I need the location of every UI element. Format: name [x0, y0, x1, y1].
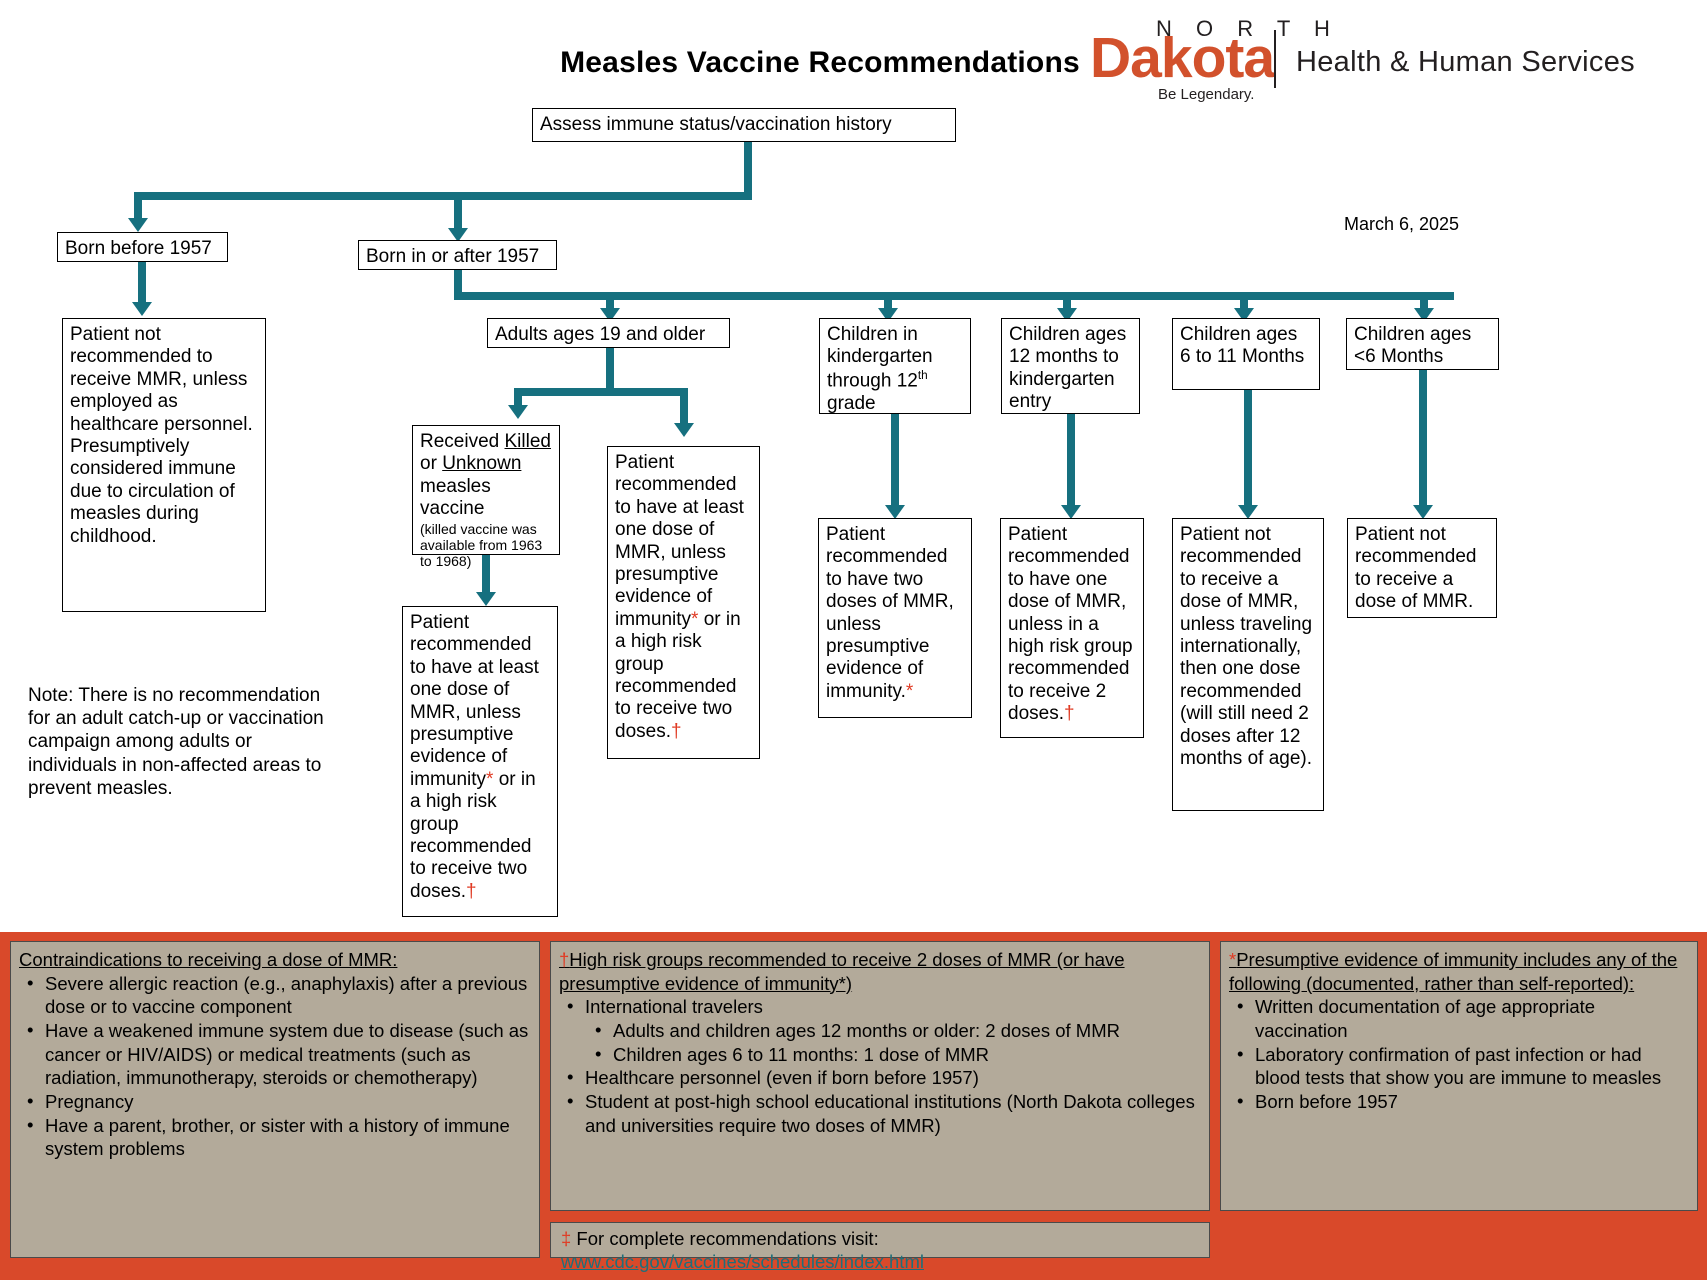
- dagger-marker: †: [1064, 703, 1075, 724]
- node-6to11-outcome: Patient not recommended to receive a dos…: [1172, 518, 1324, 811]
- connector-to-born-after: [454, 192, 462, 232]
- children-k12-text-1: Children in kindergarten through 12: [827, 324, 933, 391]
- arrow-to-adult-outcome: [674, 423, 694, 437]
- list-item: Severe allergic reaction (e.g., anaphyla…: [19, 972, 531, 1019]
- nd-hhs-logo: N O R T H Dakota Be Legendary. Health & …: [1078, 8, 1698, 104]
- double-dagger-marker: ‡: [561, 1228, 571, 1249]
- received-killed-tail: measles vaccine: [420, 476, 491, 519]
- node-children-under-6-months: Children ages <6 Months: [1346, 318, 1499, 370]
- received-killed-word-killed: Killed: [505, 431, 551, 452]
- node-children-6-to-11-months: Children ages 6 to 11 Months: [1172, 318, 1320, 390]
- connector-before1957-outcome: [138, 262, 146, 306]
- list-item: International travelers: [559, 995, 1201, 1019]
- node-killed-outcome: Patient recommended to have at least one…: [402, 606, 558, 917]
- cdc-schedules-link[interactable]: www.cdc.gov/vaccines/schedules/index.htm…: [561, 1251, 924, 1272]
- list-item: Have a weakened immune system due to dis…: [19, 1019, 531, 1090]
- asterisk-marker: *: [906, 681, 913, 702]
- node-received-killed-or-unknown: Received Killed or Unknown measles vacci…: [412, 425, 560, 555]
- list-item: Healthcare personnel (even if born befor…: [559, 1066, 1201, 1090]
- high-risk-list: International travelers Adults and child…: [559, 995, 1201, 1137]
- received-killed-mid: or: [420, 453, 442, 474]
- arrow-under6-outcome: [1413, 505, 1433, 519]
- list-item: Pregnancy: [19, 1090, 531, 1114]
- arrow-k12-outcome: [885, 505, 905, 519]
- node-adult-outcome: Patient recommended to have at least one…: [607, 446, 760, 759]
- logo-agency-name: Health & Human Services: [1296, 46, 1635, 79]
- node-k12-outcome: Patient recommended to have two doses of…: [818, 518, 972, 718]
- connector-to-adult-outcome: [680, 388, 688, 428]
- page-title: Measles Vaccine Recommendations: [540, 46, 1100, 80]
- node-before-1957-outcome: Patient not recommended to receive MMR, …: [62, 318, 266, 612]
- children-k12-superscript: th: [918, 369, 928, 382]
- list-item: Written documentation of age appropriate…: [1229, 995, 1689, 1042]
- arrow-killed-outcome: [476, 592, 496, 606]
- connector-children-bus: [454, 292, 1454, 300]
- connector-12mo-outcome: [1067, 414, 1075, 508]
- node-12mo-outcome: Patient recommended to have one dose of …: [1000, 518, 1144, 738]
- presumptive-list: Written documentation of age appropriate…: [1229, 995, 1689, 1113]
- link-bar-text: For complete recommendations visit:: [571, 1228, 878, 1249]
- presumptive-heading-text: Presumptive evidence of immunity include…: [1229, 949, 1677, 994]
- arrow-6to11-outcome: [1238, 505, 1258, 519]
- presumptive-heading: *Presumptive evidence of immunity includ…: [1229, 948, 1689, 995]
- arrow-to-received-killed: [508, 405, 528, 419]
- list-item: Have a parent, brother, or sister with a…: [19, 1114, 531, 1161]
- connector-root-bus: [134, 192, 752, 200]
- connector-root-stem: [744, 142, 752, 192]
- list-item: Children ages 6 to 11 months: 1 dose of …: [559, 1043, 1201, 1067]
- contraindications-heading: Contraindications to receiving a dose of…: [19, 948, 531, 972]
- list-item: Born before 1957: [1229, 1090, 1689, 1114]
- arrow-before1957-outcome: [132, 302, 152, 316]
- node-born-in-or-after-1957: Born in or after 1957: [358, 240, 557, 270]
- connector-killed-outcome: [482, 555, 490, 595]
- connector-under6-outcome: [1419, 370, 1427, 508]
- k12-outcome-text: Patient recommended to have two doses of…: [826, 524, 954, 702]
- adult-outcome-text-1: Patient recommended to have at least one…: [615, 452, 744, 630]
- node-under6-outcome: Patient not recommended to receive a dos…: [1347, 518, 1497, 618]
- high-risk-heading: †High risk groups recommended to receive…: [559, 948, 1201, 995]
- node-children-12mo-to-k: Children ages 12 months to kindergarten …: [1001, 318, 1140, 414]
- arrow-to-born-before: [128, 218, 148, 232]
- footer-presumptive-evidence: *Presumptive evidence of immunity includ…: [1220, 941, 1698, 1211]
- list-item: Laboratory confirmation of past infectio…: [1229, 1043, 1689, 1090]
- mo12-outcome-text: Patient recommended to have one dose of …: [1008, 524, 1133, 724]
- logo-divider: [1274, 30, 1276, 88]
- adult-catchup-note: Note: There is no recommendation for an …: [28, 684, 328, 800]
- contraindications-list: Severe allergic reaction (e.g., anaphyla…: [19, 972, 531, 1161]
- node-adults-19-and-older: Adults ages 19 and older: [487, 318, 730, 348]
- dagger-marker: †: [559, 949, 569, 970]
- connector-6to11-outcome: [1244, 390, 1252, 508]
- footer-link-bar[interactable]: ‡ For complete recommendations visit: ww…: [550, 1222, 1210, 1258]
- logo-dakota-text: Dakota: [1090, 30, 1274, 87]
- footer-high-risk-groups: †High risk groups recommended to receive…: [550, 941, 1210, 1211]
- received-killed-word-unknown: Unknown: [442, 453, 521, 474]
- connector-adults-bus: [514, 388, 688, 396]
- connector-k12-outcome: [891, 414, 899, 508]
- list-item: Student at post-high school educational …: [559, 1090, 1201, 1137]
- footer-contraindications: Contraindications to receiving a dose of…: [10, 941, 540, 1258]
- killed-outcome-text-1: Patient recommended to have at least one…: [410, 612, 539, 790]
- list-item: Adults and children ages 12 months or ol…: [559, 1019, 1201, 1043]
- node-born-before-1957: Born before 1957: [57, 232, 228, 262]
- arrow-12mo-outcome: [1061, 505, 1081, 519]
- children-k12-text-2: grade: [827, 393, 876, 414]
- flowchart-canvas: Measles Vaccine Recommendations N O R T …: [0, 0, 1707, 1280]
- received-killed-lead: Received: [420, 431, 505, 452]
- dagger-marker: †: [671, 721, 682, 742]
- node-children-k12: Children in kindergarten through 12th gr…: [819, 318, 971, 414]
- logo-tagline: Be Legendary.: [1158, 86, 1254, 103]
- node-assess-immune-status: Assess immune status/vaccination history: [532, 108, 956, 142]
- date-label: March 6, 2025: [1344, 214, 1459, 235]
- high-risk-heading-text: High risk groups recommended to receive …: [559, 949, 1125, 994]
- dagger-marker: †: [466, 881, 477, 902]
